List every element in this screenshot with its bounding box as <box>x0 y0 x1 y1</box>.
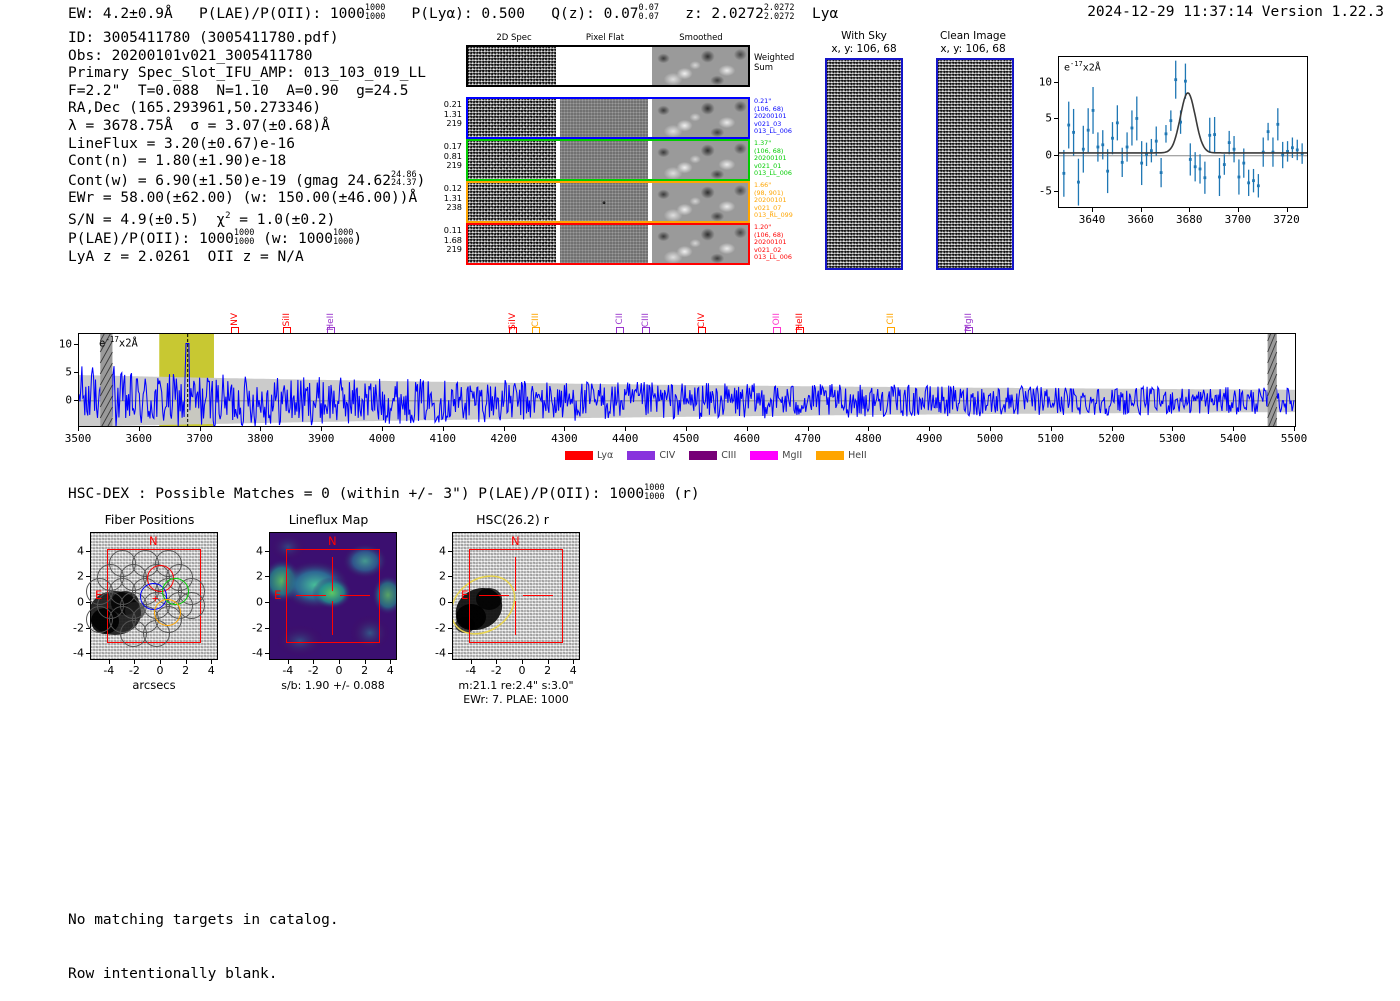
fiber-left-stats: 0.121.31238 <box>432 184 462 213</box>
panel-hsc-r: HSC(26.2) r N E -4-2024420-2-4 m:21.1 re… <box>420 512 605 737</box>
header-plya: P(Lyα): 0.500 <box>412 6 526 22</box>
cutout-with-sky-coords: x, y: 106, 68 <box>820 43 908 56</box>
spectrum-ytick <box>74 344 78 345</box>
spectrum-xtick <box>139 427 140 431</box>
fiber-positions-image: N E + <box>90 532 218 660</box>
spectrum-xtick-label: 4100 <box>430 432 457 445</box>
zoom-ytick <box>1054 118 1058 119</box>
spectrum-xtick-label: 5500 <box>1281 432 1308 445</box>
spectrum-xtick <box>1233 427 1234 431</box>
panel-xtick <box>160 660 161 664</box>
hsc-cross-h-right <box>523 595 553 596</box>
info-redshifts: LyA z = 2.0261 OII z = N/A <box>68 249 426 267</box>
spectrum-xtick-label: 4000 <box>369 432 396 445</box>
panel-xtick-label: 4 <box>208 664 215 677</box>
panel-ytick <box>86 628 90 629</box>
spectrum-xtick-label: 3600 <box>126 432 153 445</box>
legend-label: MgII <box>782 450 802 461</box>
panel-xtick <box>496 660 497 664</box>
spec2d-montage: 2D Spec Pixel Flat Smoothed Weighted Sum… <box>432 33 762 258</box>
panel-xtick-label: -2 <box>129 664 140 677</box>
legend-label: HeII <box>848 450 867 461</box>
panel-xtick <box>522 660 523 664</box>
zoom-xtick <box>1287 208 1288 212</box>
weighted-sum-smoothed <box>652 47 748 85</box>
lineflux-cross-h-left <box>296 595 326 596</box>
fiber-meta-line: 013_LL_006 <box>754 254 792 262</box>
emission-line-tick <box>773 327 781 333</box>
panel-xtick-label: -4 <box>465 664 476 677</box>
legend-item: CIII <box>689 450 736 461</box>
fiber-stat: 238 <box>432 203 462 213</box>
fiber-2dspec <box>468 183 556 221</box>
zoom-ytick-label: 0 <box>1026 148 1052 161</box>
spectrum-xtick <box>1112 427 1113 431</box>
zoom-ytick-label: 10 <box>1026 75 1052 88</box>
zoom-ytick-label: -5 <box>1026 185 1052 198</box>
spectrum-xtick <box>260 427 261 431</box>
zoom-xtick <box>1092 208 1093 212</box>
spectrum-xtick-label: 5300 <box>1159 432 1186 445</box>
emission-line-label: CII <box>886 313 896 325</box>
panel-xtick <box>471 660 472 664</box>
spectrum-xtick <box>1051 427 1052 431</box>
legend-swatch <box>627 451 655 460</box>
panel-xtick-label: 0 <box>336 664 343 677</box>
panel-xtick <box>548 660 549 664</box>
panel-xtick-label: -4 <box>103 664 114 677</box>
spectrum-xtick <box>868 427 869 431</box>
panel-ytick <box>265 628 269 629</box>
spectrum-xtick-label: 3700 <box>186 432 213 445</box>
emission-line-label: CII <box>615 313 625 325</box>
panel-xtick-label: -4 <box>282 664 293 677</box>
compass-east-lineflux: E <box>274 588 281 602</box>
lineflux-cross-v-top <box>332 557 333 591</box>
emission-line-label: OII <box>772 313 782 325</box>
panel-ytick <box>86 602 90 603</box>
hsc-r-image: N E <box>452 532 580 660</box>
hsc-cross-v-top <box>515 557 516 591</box>
emission-line-tick <box>965 327 973 333</box>
emission-line-tick <box>642 327 650 333</box>
weighted-sum-strip <box>466 45 750 87</box>
lineflux-map-sb: s/b: 1.90 +/- 0.088 <box>259 679 407 693</box>
fiber-left-stats: 0.111.68219 <box>432 226 462 255</box>
legend-item: CIV <box>627 450 675 461</box>
zoom-xtick-label: 3660 <box>1127 213 1154 226</box>
spectrum-xtick <box>747 427 748 431</box>
spectrum-ytick-label: 0 <box>46 393 72 406</box>
panel-xtick <box>288 660 289 664</box>
fiber-strip <box>466 223 750 265</box>
panel-xtick-label: 0 <box>157 664 164 677</box>
panel-xtick <box>211 660 212 664</box>
panel-ytick-label: -2 <box>239 621 263 634</box>
panel-ytick-label: -2 <box>60 621 84 634</box>
spectrum-xtick <box>808 427 809 431</box>
spectrum-xtick-label: 3800 <box>247 432 274 445</box>
legend-label: CIV <box>659 450 675 461</box>
weighted-sum-2dspec <box>468 47 556 85</box>
panel-xtick <box>109 660 110 664</box>
lineflux-cross-h-right <box>340 595 370 596</box>
spectrum-xtick <box>321 427 322 431</box>
spectrum-xtick <box>200 427 201 431</box>
spectrum-ytick-label: 10 <box>46 338 72 351</box>
header-plae: P(LAE)/P(OII): 1000 <box>199 6 365 22</box>
panel-ytick <box>448 602 452 603</box>
fiber-pixelflat <box>560 99 649 137</box>
catalog-match-range: 10001000 <box>644 484 664 501</box>
panel-ytick-label: 2 <box>422 570 446 583</box>
target-info-block: ID: 3005411780 (3005411780.pdf) Obs: 202… <box>68 30 426 267</box>
emission-line-tick <box>532 327 540 333</box>
emission-line-label: CIV <box>697 313 707 328</box>
catalog-match-prefix: HSC-DEX : Possible Matches = 0 (within +… <box>68 486 644 502</box>
info-plae-w-range: 10001000 <box>333 229 353 246</box>
zoom-xtick <box>1238 208 1239 212</box>
fiber-meta-line: 013_RL_099 <box>754 212 793 220</box>
lineflux-cross-v-bot <box>332 601 333 635</box>
panel-ytick-label: -2 <box>422 621 446 634</box>
info-observing-conditions: F=2.2" T=0.088 N=1.10 A=0.90 g=24.5 <box>68 83 426 101</box>
fiber-left-stats: 0.211.31219 <box>432 100 462 129</box>
spectrum-ytick-label: 5 <box>46 366 72 379</box>
panel-ytick <box>265 576 269 577</box>
zoom-ytick <box>1054 191 1058 192</box>
panel-ytick-label: 2 <box>60 570 84 583</box>
panel-xtick <box>365 660 366 664</box>
spectrum-xtick <box>625 427 626 431</box>
info-cont-w: Cont(w) = 6.90(±1.50)e-19 (gmag 24.6224.… <box>68 171 426 191</box>
panel-lineflux-map-title: Lineflux Map <box>241 512 416 527</box>
lineflux-map-image: N E <box>269 532 397 660</box>
fiber-circle <box>86 606 113 633</box>
fiber-pixelflat <box>560 183 649 221</box>
zoom-ytick <box>1054 82 1058 83</box>
fiber-smoothed <box>652 183 748 221</box>
spectrum-xtick-label: 3900 <box>308 432 335 445</box>
emission-line-label: CIII <box>641 313 651 327</box>
emission-line-tick <box>231 327 239 333</box>
spectrum-xtick-label: 5400 <box>1220 432 1247 445</box>
spectrum-xtick <box>564 427 565 431</box>
spectrum-xtick <box>929 427 930 431</box>
catalog-match-suffix: (r) <box>673 486 699 502</box>
panel-xtick <box>313 660 314 664</box>
fiber-stat: 219 <box>432 245 462 255</box>
hsc-cross-h-left <box>479 595 509 596</box>
zoom-xtick-label: 3700 <box>1225 213 1252 226</box>
catalog-match-line: HSC-DEX : Possible Matches = 0 (within +… <box>68 484 700 502</box>
fiber-right-meta: 1.20"(106, 68)20200101v021_02013_LL_006 <box>754 224 792 262</box>
fiber-strip <box>466 181 750 223</box>
spectrum-xtick <box>382 427 383 431</box>
spectrum-xtick <box>78 427 79 431</box>
emission-line-label: NV <box>230 313 240 326</box>
panel-ytick-label: 2 <box>239 570 263 583</box>
footer-notes: No matching targets in catalog. Row inte… <box>68 875 339 1001</box>
panel-ytick-label: 4 <box>239 544 263 557</box>
cutout-with-sky-image <box>825 58 903 270</box>
compass-north-hsc: N <box>511 534 520 548</box>
zoom-ytick-label: 5 <box>1026 112 1052 125</box>
spectrum-xtick-label: 4400 <box>612 432 639 445</box>
panel-ytick <box>448 551 452 552</box>
spectrum-legend: LyαCIVCIIIMgIIHeII <box>565 450 867 461</box>
panel-xtick-label: 4 <box>570 664 577 677</box>
panel-xtick-label: 2 <box>182 664 189 677</box>
fiber-right-meta: 0.21"(106, 68)20200101v021_03013_LL_006 <box>754 98 792 136</box>
panel-ytick <box>448 628 452 629</box>
footer-line-2: Row intentionally blank. <box>68 965 339 983</box>
panel-xtick <box>186 660 187 664</box>
emission-line-tick <box>796 327 804 333</box>
panel-ytick <box>448 653 452 654</box>
compass-north-lineflux: N <box>328 534 337 548</box>
fiber-smoothed <box>652 141 748 179</box>
info-obs: Obs: 20200101v021_3005411780 <box>68 48 426 66</box>
spectrum-xtick <box>1172 427 1173 431</box>
col-header-smoothed: Smoothed <box>654 33 748 43</box>
info-ewr: EWr = 58.00(±62.00) (w: 150.00(±46.00))Å <box>68 190 426 208</box>
zoom-plot-units: e-17x2Å <box>1064 60 1101 73</box>
panel-lineflux-map: Lineflux Map N E -4-2024420-2-4 s/b: 1.9… <box>241 512 416 722</box>
fiber-pixelflat <box>560 141 649 179</box>
spectrum-xtick <box>443 427 444 431</box>
zoom-xtick <box>1189 208 1190 212</box>
zoom-xtick-label: 3720 <box>1273 213 1300 226</box>
panel-ytick-label: 4 <box>422 544 446 557</box>
fiber-strip <box>466 97 750 139</box>
fiber-left-stats: 0.170.81219 <box>432 142 462 171</box>
legend-label: CIII <box>721 450 736 461</box>
header-ew: EW: 4.2±0.9Å <box>68 6 173 22</box>
legend-swatch <box>689 451 717 460</box>
spectrum-xtick <box>504 427 505 431</box>
info-radec: RA,Dec (165.293961,50.273346) <box>68 100 426 118</box>
panel-xtick-label: -2 <box>491 664 502 677</box>
panel-ytick-label: 4 <box>60 544 84 557</box>
legend-swatch <box>816 451 844 460</box>
fiber-meta-line: 013_LL_006 <box>754 170 792 178</box>
spectrum-xtick-label: 4800 <box>855 432 882 445</box>
fiber-stat: 219 <box>432 119 462 129</box>
fiber-stat: 219 <box>432 161 462 171</box>
legend-item: HeII <box>816 450 867 461</box>
hsc-r-ewr-plae: EWr: 7. PLAE: 1000 <box>428 693 604 707</box>
spectrum-xtick-label: 3500 <box>65 432 92 445</box>
info-cont-n: Cont(n) = 1.80(±1.90)e-18 <box>68 153 426 171</box>
emission-line-label: SiII <box>282 313 292 327</box>
panel-ytick <box>448 576 452 577</box>
emission-line-tick <box>616 327 624 333</box>
hsc-cross-v-bot <box>515 601 516 635</box>
fiber-pixelflat <box>560 225 649 263</box>
header-line-id: Lyα <box>812 6 838 22</box>
header-plae-range: 10001000 <box>365 4 385 21</box>
spectrum-xtick <box>990 427 991 431</box>
legend-swatch <box>565 451 593 460</box>
info-sn-chi2: S/N = 4.9(±0.5) χ2 = 1.0(±0.2) <box>68 208 426 229</box>
spectrum-xtick-label: 4500 <box>673 432 700 445</box>
panel-xtick <box>134 660 135 664</box>
spectrum-xtick-label: 4700 <box>794 432 821 445</box>
panel-fiber-positions-title: Fiber Positions <box>62 512 237 527</box>
full-spectrum-plot: e-17x2Å 35003600370038003900400041004200… <box>78 333 1304 448</box>
spectrum-xtick-label: 5200 <box>1098 432 1125 445</box>
fiber-right-meta: 1.37"(106, 68)20200101v021_01013_LL_006 <box>754 140 792 178</box>
fiber-right-meta: 1.66"(98, 901)20200101v021_07013_RL_099 <box>754 182 793 220</box>
panel-ytick-label: -4 <box>239 647 263 660</box>
legend-swatch <box>750 451 778 460</box>
emission-line-tick <box>283 327 291 333</box>
panel-fiber-positions: Fiber Positions N E + -4-2024420-2-4 arc… <box>62 512 237 712</box>
zoom-xtick <box>1141 208 1142 212</box>
header-summary: EW: 4.2±0.9Å P(LAE)/P(OII): 100010001000… <box>68 4 838 22</box>
panel-xtick-label: 2 <box>361 664 368 677</box>
panel-ytick <box>86 551 90 552</box>
panel-ytick-label: 0 <box>422 596 446 609</box>
panel-ytick <box>265 551 269 552</box>
fiber-smoothed <box>652 99 748 137</box>
footer-line-1: No matching targets in catalog. <box>68 911 339 929</box>
spectrum-xtick-label: 4200 <box>490 432 517 445</box>
panel-ytick-label: -4 <box>60 647 84 660</box>
spectrum-xtick-label: 4600 <box>734 432 761 445</box>
full-spectrum-axes: e-17x2Å <box>78 333 1296 427</box>
panel-ytick-label: 0 <box>239 596 263 609</box>
panel-xtick <box>390 660 391 664</box>
spectrum-xtick <box>686 427 687 431</box>
spectrum-xtick-label: 5100 <box>1038 432 1065 445</box>
compass-north-fiber: N <box>149 534 158 548</box>
emission-line-tick <box>887 327 895 333</box>
header-qz: Q(z): 0.07 <box>551 6 638 22</box>
panel-ytick <box>86 576 90 577</box>
cutout-with-sky-title: With Sky <box>820 30 908 43</box>
info-spec-slot: Primary Spec_Slot_IFU_AMP: 013_103_019_L… <box>68 65 426 83</box>
cutout-clean-title: Clean Image <box>925 30 1021 43</box>
emission-line-label: CIII <box>531 313 541 327</box>
info-id: ID: 3005411780 (3005411780.pdf) <box>68 30 426 48</box>
zoom-ytick <box>1054 155 1058 156</box>
panel-ytick-label: -4 <box>422 647 446 660</box>
panel-xtick-label: 4 <box>387 664 394 677</box>
legend-label: Lyα <box>597 450 613 461</box>
col-header-2dspec: 2D Spec <box>472 33 556 43</box>
cutout-clean-coords: x, y: 106, 68 <box>925 43 1021 56</box>
spectrum-xtick-label: 4900 <box>916 432 943 445</box>
panel-xtick-label: -2 <box>308 664 319 677</box>
panel-ytick-label: 0 <box>60 596 84 609</box>
zoom-xtick-label: 3680 <box>1176 213 1203 226</box>
panel-xtick <box>339 660 340 664</box>
spectrum-xtick-label: 4300 <box>551 432 578 445</box>
info-wavelength-sigma: λ = 3678.75Å σ = 3.07(±0.68)Å <box>68 118 426 136</box>
compass-east-hsc: E <box>461 588 468 602</box>
weighted-sum-label: Weighted Sum <box>754 53 794 73</box>
header-timestamp: 2024-12-29 11:37:14 Version 1.22.3 <box>1087 4 1384 20</box>
legend-item: MgII <box>750 450 802 461</box>
panel-xtick-label: 2 <box>544 664 551 677</box>
fiber-positions-center-cross: + <box>152 592 159 605</box>
cutout-clean-image <box>936 58 1014 270</box>
fiber-2dspec <box>468 141 556 179</box>
panel-hsc-r-title: HSC(26.2) r <box>420 512 605 527</box>
spectrum-ytick <box>74 372 78 373</box>
info-plae-range: 10001000 <box>234 229 254 246</box>
legend-item: Lyα <box>565 450 613 461</box>
fiber-strip <box>466 139 750 181</box>
fiber-2dspec <box>468 225 556 263</box>
spectrum-units: e-17x2Å <box>99 335 138 350</box>
panel-xtick <box>573 660 574 664</box>
spectrum-xtick <box>1294 427 1295 431</box>
fiber-2dspec <box>468 99 556 137</box>
emission-line-zoom-plot: e-17x2Å 36403660368037003720-50510 <box>1040 56 1310 236</box>
spectrum-ytick <box>74 400 78 401</box>
fiber-smoothed <box>652 225 748 263</box>
info-lineflux: LineFlux = 3.20(±0.67)e-16 <box>68 136 426 154</box>
panel-xtick-label: 0 <box>519 664 526 677</box>
emission-line-tick <box>327 327 335 333</box>
header-z-range: 2.02722.0272 <box>764 4 795 21</box>
spectrum-xtick-label: 5000 <box>977 432 1004 445</box>
col-header-pixelflat: Pixel Flat <box>562 33 648 43</box>
fiber-positions-xlabel: arcsecs <box>90 678 218 692</box>
zoom-xtick-label: 3640 <box>1079 213 1106 226</box>
info-gmag-range: 24.8624.37 <box>391 171 417 188</box>
header-z: z: 2.0272 <box>685 6 764 22</box>
zoom-plot-axes: e-17x2Å <box>1058 56 1308 208</box>
header-qz-range: 0.070.07 <box>639 4 659 21</box>
info-plae: P(LAE)/P(OII): 100010001000 (w: 10001000… <box>68 229 426 249</box>
fiber-meta-line: 013_LL_006 <box>754 128 792 136</box>
hsc-r-morphology: m:21.1 re:2.4" s:3.0" <box>428 679 604 693</box>
emission-line-tick <box>509 327 517 333</box>
emission-line-tick <box>698 327 706 333</box>
panel-ytick <box>265 653 269 654</box>
panel-ytick <box>86 653 90 654</box>
compass-east-fiber: E <box>95 588 102 602</box>
panel-ytick <box>265 602 269 603</box>
weighted-sum-pixelflat <box>560 47 649 85</box>
